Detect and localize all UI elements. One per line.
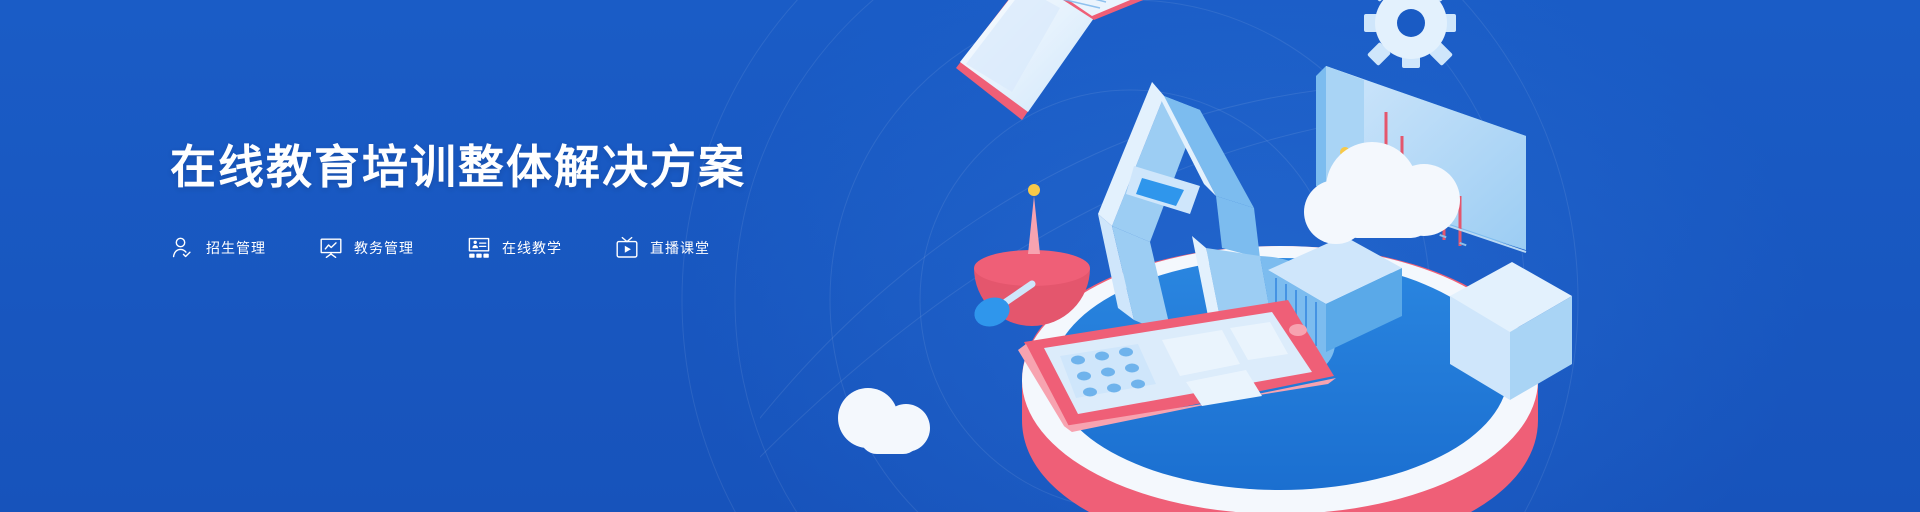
admissions-person-icon	[170, 235, 196, 261]
feature-item-academic-affairs[interactable]: 教务管理	[318, 235, 414, 261]
whiteboard-chart-icon	[318, 235, 344, 261]
classroom-teaching-icon	[466, 235, 492, 261]
spinning-top-pink	[970, 184, 1090, 331]
feature-label-admissions: 招生管理	[206, 238, 266, 258]
feature-item-online-teaching[interactable]: 在线教学	[466, 235, 562, 261]
open-book-red-cover	[956, 0, 1158, 120]
gear-light-blue	[1364, 0, 1456, 68]
feature-label-academic-affairs: 教务管理	[354, 238, 414, 258]
hero-banner: 在线教育培训整体解决方案 招生管理	[0, 0, 1920, 512]
hero-illustration	[760, 0, 1920, 512]
cloud-white-small	[838, 388, 930, 454]
feature-item-live-classroom[interactable]: 直播课堂	[614, 235, 710, 261]
feature-label-live-classroom: 直播课堂	[650, 238, 710, 258]
feature-label-online-teaching: 在线教学	[502, 238, 562, 258]
live-tv-play-icon	[614, 235, 640, 261]
feature-item-admissions[interactable]: 招生管理	[170, 235, 266, 261]
